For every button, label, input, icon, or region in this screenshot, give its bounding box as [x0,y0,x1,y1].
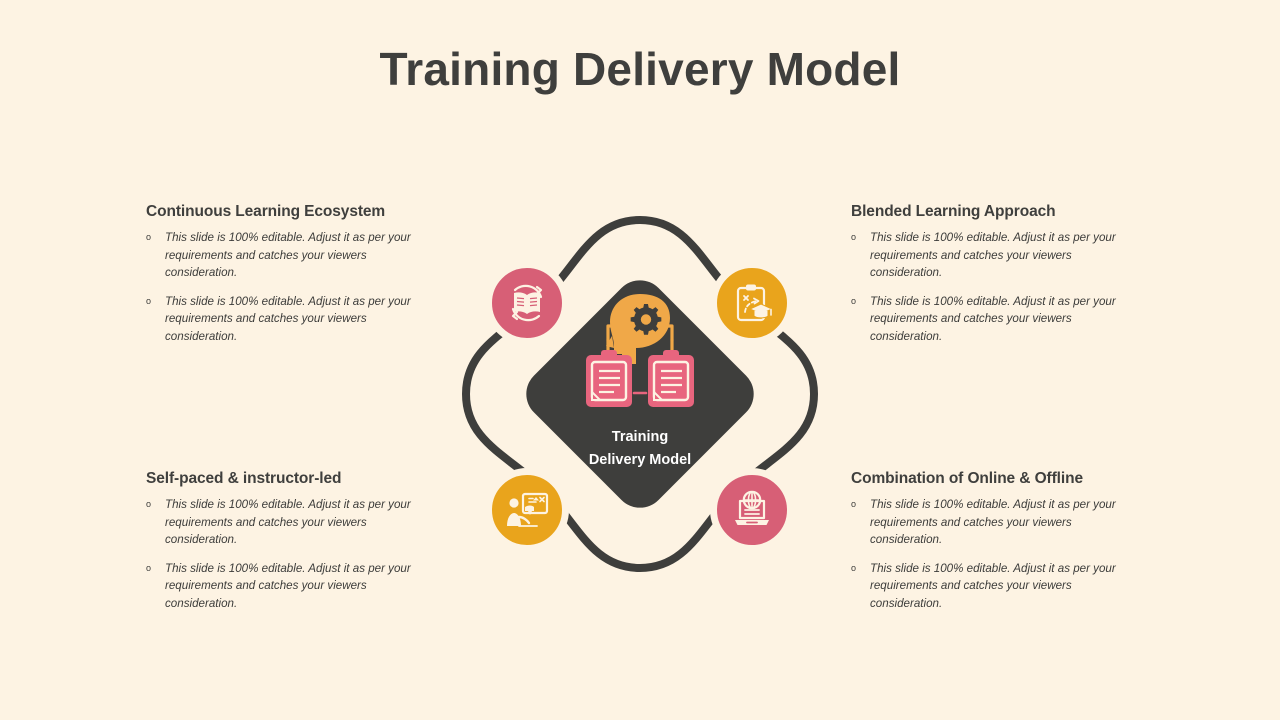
center-label-line2: Delivery Model [520,449,760,472]
list-item-text: This slide is 100% editable. Adjust it a… [870,498,1116,546]
list-item: o This slide is 100% editable. Adjust it… [851,229,1143,282]
list-item-text: This slide is 100% editable. Adjust it a… [165,562,411,610]
text-block-blended-learning-approach: Blended Learning Approach o This slide i… [851,203,1143,346]
list-item: o This slide is 100% editable. Adjust it… [146,560,438,613]
training-delivery-model-diagram: Training Delivery Model [440,198,840,618]
bullet-marker-icon: o [851,560,856,577]
list-item-text: This slide is 100% editable. Adjust it a… [165,498,411,546]
head-gear-clipboards-icon [586,294,694,407]
list-item-text: This slide is 100% editable. Adjust it a… [870,231,1116,279]
bullet-marker-icon: o [146,229,151,246]
block-heading: Self-paced & instructor-led [146,470,438,488]
clipboard-left-icon [586,350,632,407]
gear-icon [631,304,662,335]
bullet-marker-icon: o [146,496,151,513]
bullet-list: o This slide is 100% editable. Adjust it… [146,229,438,346]
list-item-text: This slide is 100% editable. Adjust it a… [870,562,1116,610]
node-combination-online-offline[interactable] [710,468,794,552]
center-icon-group [440,198,840,618]
list-item: o This slide is 100% editable. Adjust it… [146,496,438,549]
list-item-text: This slide is 100% editable. Adjust it a… [165,295,411,343]
list-item-text: This slide is 100% editable. Adjust it a… [165,231,411,279]
node-self-paced-instructor-led[interactable] [485,468,569,552]
clipboard-right-icon [648,350,694,407]
list-item: o This slide is 100% editable. Adjust it… [146,229,438,282]
bullet-marker-icon: o [146,293,151,310]
bullet-list: o This slide is 100% editable. Adjust it… [146,496,438,613]
block-heading: Continuous Learning Ecosystem [146,203,438,221]
list-item: o This slide is 100% editable. Adjust it… [146,293,438,346]
text-block-continuous-learning-ecosystem: Continuous Learning Ecosystem o This sli… [146,203,438,346]
bullet-list: o This slide is 100% editable. Adjust it… [851,496,1143,613]
instructor-board-icon [503,486,551,534]
list-item: o This slide is 100% editable. Adjust it… [851,293,1143,346]
bullet-marker-icon: o [851,496,856,513]
laptop-globe-icon [728,486,776,534]
text-block-self-paced-instructor-led: Self-paced & instructor-led o This slide… [146,470,438,613]
list-item: o This slide is 100% editable. Adjust it… [851,560,1143,613]
text-block-combination-online-offline: Combination of Online & Offline o This s… [851,470,1143,613]
list-item-text: This slide is 100% editable. Adjust it a… [870,295,1116,343]
center-label-line1: Training [520,426,760,449]
block-heading: Blended Learning Approach [851,203,1143,221]
book-refresh-icon [503,279,551,327]
bullet-list: o This slide is 100% editable. Adjust it… [851,229,1143,346]
clipboard-graduation-icon [728,279,776,327]
block-heading: Combination of Online & Offline [851,470,1143,488]
node-continuous-learning-ecosystem[interactable] [485,261,569,345]
page-title: Training Delivery Model [0,42,1280,96]
bullet-marker-icon: o [146,560,151,577]
list-item: o This slide is 100% editable. Adjust it… [851,496,1143,549]
node-blended-learning-approach[interactable] [710,261,794,345]
center-label: Training Delivery Model [520,426,760,472]
bullet-marker-icon: o [851,229,856,246]
bullet-marker-icon: o [851,293,856,310]
